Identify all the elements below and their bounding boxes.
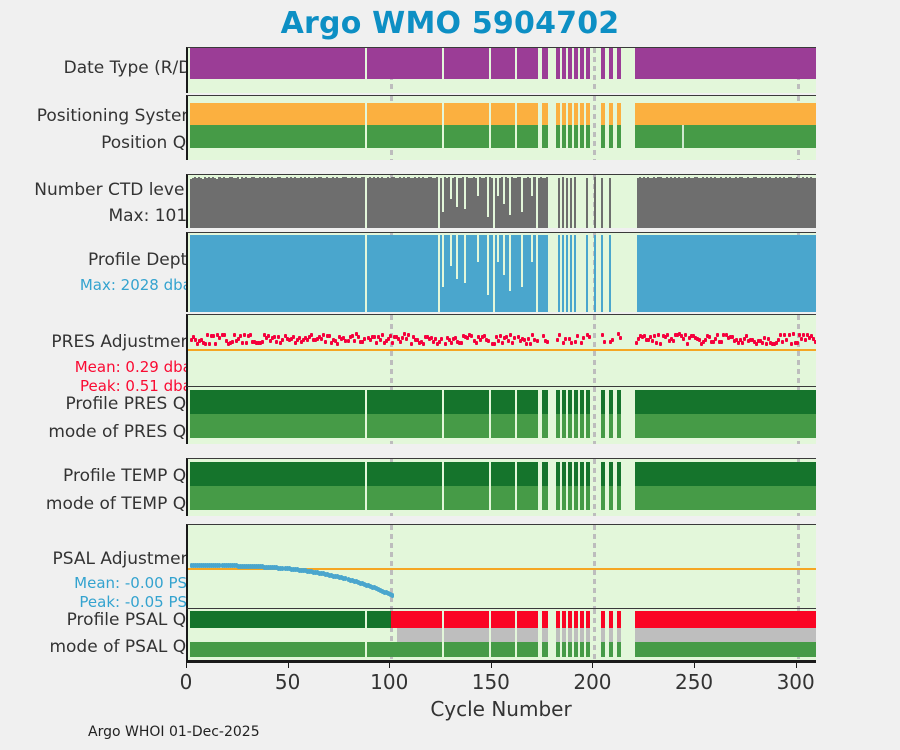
- pres-adjustment-point: [659, 342, 662, 346]
- pres-adjustment-point: [450, 341, 453, 345]
- mode-psal-qc-block: [617, 642, 621, 657]
- mode-psal-qc-block: [601, 642, 605, 657]
- pres-adjustment-point: [401, 336, 404, 340]
- ctd-level-bar: [491, 178, 493, 228]
- pres-qc-profile-block: [586, 390, 590, 415]
- pres-adjustment-point: [306, 338, 309, 342]
- gridline-300: [797, 315, 800, 388]
- positioning-system-block: [517, 103, 537, 125]
- temp-qc-mode-block: [367, 486, 442, 510]
- mode-psal-qc-block: [568, 642, 572, 657]
- positioning-system-block: [190, 103, 365, 125]
- positioning-system-block: [444, 103, 489, 125]
- position-qc-block: [491, 125, 515, 148]
- pres-adjustment-point: [653, 334, 656, 338]
- pres-adjustment-point: [277, 335, 280, 339]
- pres-adjustment-point: [351, 334, 354, 338]
- temp-qc-profile-block: [367, 462, 442, 487]
- pres-adjustment-point: [513, 336, 516, 340]
- pres-adjustment-point: [790, 342, 793, 346]
- mode-psal-qc-block: [542, 642, 548, 657]
- date-type-block: [542, 48, 548, 79]
- temp-qc-mode-block: [586, 486, 590, 510]
- ctd-level-bar: [566, 178, 568, 228]
- pres-adjustment-point: [239, 334, 242, 338]
- mode-psal-qc-block: [609, 642, 613, 657]
- row-label-profile-depth-0: Profile Depth: [0, 250, 198, 270]
- pres-adjustment-point: [507, 339, 510, 343]
- gridline-200: [593, 525, 596, 608]
- pres-adjustment-point: [206, 333, 209, 337]
- pres-adjustment-point: [381, 333, 384, 337]
- temp-qc-profile-block: [542, 462, 548, 487]
- pres-adjustment-point: [511, 341, 514, 345]
- pres-adjustment-point: [531, 333, 534, 337]
- pres-adjustment-point: [422, 342, 425, 346]
- position-qc-block: [367, 125, 442, 148]
- pres-adjustment-point: [570, 341, 573, 345]
- argo-float-chart: Argo WMO 5904702 Date Type (R/D)Position…: [0, 0, 900, 750]
- position-qc-block: [580, 125, 584, 148]
- profile-depth-bar: [609, 235, 611, 312]
- profile-depth-bar: [533, 235, 535, 312]
- mode-psal-qc-block: [444, 642, 489, 657]
- row-label-psal-adjustment-2: Peak: -0.05 PSU: [0, 593, 198, 611]
- pres-qc-profile-block: [617, 390, 621, 415]
- positioning-system-block: [556, 103, 560, 125]
- panel-pres-adjustment: [186, 314, 816, 388]
- mode-psal-qc-gray-block: [491, 628, 515, 642]
- mode-psal-qc-block: [562, 642, 566, 657]
- pres-adjustment-point: [580, 341, 583, 345]
- temp-qc-profile-block: [491, 462, 515, 487]
- positioning-system-block: [542, 103, 548, 125]
- position-qc-block: [568, 125, 572, 148]
- positioning-system-block: [367, 103, 442, 125]
- row-label-temp-qc-0: Profile TEMP QC: [0, 466, 198, 486]
- plot-area-psal-adjustment: [188, 525, 816, 608]
- gridline-100: [390, 315, 393, 388]
- pres-adjustment-point: [212, 334, 215, 338]
- temp-qc-profile-block: [444, 462, 489, 487]
- psal-qc-bad-block: [609, 611, 613, 628]
- x-tick-label-100: 100: [370, 670, 408, 694]
- profile-depth-bar: [491, 235, 493, 312]
- gridline-200: [593, 48, 596, 93]
- psal-qc-bad-block: [517, 611, 537, 628]
- pres-adjustment-point: [487, 339, 490, 343]
- pres-adjustment-point: [204, 342, 207, 346]
- pres-adjustment-point: [684, 333, 687, 337]
- credit-text: Argo WHOI 01-Dec-2025: [88, 724, 260, 740]
- mode-psal-qc-gray-block: [556, 628, 560, 642]
- pres-qc-profile-block: [367, 390, 442, 415]
- row-label-pres-adjustment-2: Peak: 0.51 dbar: [0, 377, 198, 395]
- x-axis: [186, 661, 816, 663]
- gridline-200: [593, 315, 596, 388]
- pres-qc-mode-block: [601, 414, 605, 438]
- temp-qc-profile-block: [635, 462, 816, 487]
- position-qc-block: [542, 125, 548, 148]
- profile-depth-bar: [546, 235, 548, 312]
- pres-adjustment-point: [444, 342, 447, 346]
- mode-psal-qc-block: [190, 642, 365, 657]
- mode-psal-qc-block: [635, 642, 816, 657]
- position-qc-block: [574, 125, 578, 148]
- temp-qc-profile-block: [568, 462, 572, 487]
- temp-qc-mode-block: [444, 486, 489, 510]
- temp-qc-mode-block: [580, 486, 584, 510]
- positioning-system-block: [617, 103, 621, 125]
- psal-qc-bad-block: [635, 611, 816, 628]
- psal-qc-good-block: [190, 611, 365, 628]
- mode-psal-qc-block: [580, 642, 584, 657]
- positioning-system-block: [568, 103, 572, 125]
- pres-adjustment-point: [741, 341, 744, 345]
- pres-adjustment-point: [241, 341, 244, 345]
- mode-psal-qc-gray-block: [562, 628, 566, 642]
- ctd-level-bar: [609, 178, 611, 228]
- pres-adjustment-point: [399, 340, 402, 344]
- pres-qc-mode-block: [444, 414, 489, 438]
- pres-adjustment-point: [655, 341, 658, 345]
- temp-qc-profile-block: [601, 462, 605, 487]
- pres-qc-mode-block: [574, 414, 578, 438]
- pres-adjustment-point: [682, 337, 685, 341]
- pres-qc-mode-block: [562, 414, 566, 438]
- temp-qc-mode-block: [562, 486, 566, 510]
- mode-psal-qc-block: [586, 642, 590, 657]
- temp-qc-mode-block: [617, 486, 621, 510]
- temp-qc-mode-block: [601, 486, 605, 510]
- psal-qc-bad-block: [568, 611, 572, 628]
- row-label-pres-adjustment-0: PRES Adjustment: [0, 332, 198, 352]
- pres-adjustment-point: [403, 332, 406, 336]
- mode-psal-qc-block: [491, 642, 515, 657]
- pres-qc-mode-block: [635, 414, 816, 438]
- pres-adjustment-point: [440, 337, 443, 341]
- ctd-level-bar: [546, 177, 548, 228]
- plot-area-temp-qc: [188, 459, 816, 516]
- profile-depth-bar: [570, 235, 572, 312]
- pres-qc-mode-block: [609, 414, 613, 438]
- plot-area-psal-qc: [188, 609, 816, 660]
- pres-qc-profile-block: [491, 390, 515, 415]
- temp-qc-profile-block: [574, 462, 578, 487]
- panel-psal-adjustment: [186, 524, 816, 608]
- pres-adjustment-point: [407, 333, 410, 337]
- pres-adjustment-point: [802, 333, 805, 337]
- pres-qc-profile-block: [444, 390, 489, 415]
- mode-psal-qc-block: [574, 642, 578, 657]
- row-label-psal-qc-0: Profile PSAL QC: [0, 610, 198, 630]
- psal-qc-bad-block: [491, 611, 515, 628]
- date-type-block: [444, 48, 489, 79]
- page-title: Argo WMO 5904702: [0, 6, 900, 41]
- pres-adjustment-point: [267, 334, 270, 338]
- temp-qc-profile-block: [517, 462, 537, 487]
- ctd-level-bar: [562, 177, 564, 228]
- temp-qc-mode-block: [517, 486, 537, 510]
- row-label-pres-adjustment-1: Mean: 0.29 dbar: [0, 358, 198, 376]
- ctd-level-bar: [436, 177, 438, 228]
- x-tick-label-250: 250: [675, 670, 713, 694]
- pres-adjustment-point: [745, 334, 748, 338]
- pres-adjustment-point: [231, 340, 234, 344]
- pres-adjustment-point: [529, 342, 532, 346]
- date-type-block: [190, 48, 365, 79]
- mode-psal-qc-gray-block: [617, 628, 621, 642]
- pres-adjustment-point: [525, 342, 528, 346]
- pres-adjustment-point: [743, 337, 746, 341]
- plot-area-pres-adjustment: [188, 315, 816, 388]
- pres-adjustment-point: [708, 335, 711, 339]
- row-label-positioning-0: Positioning System: [0, 106, 198, 126]
- pres-qc-mode-block: [542, 414, 548, 438]
- x-tick-300: [796, 661, 797, 668]
- pres-adjustment-point: [249, 333, 252, 337]
- gridline-200: [593, 96, 596, 160]
- positioning-system-block: [574, 103, 578, 125]
- pres-adjustment-point: [275, 340, 278, 344]
- date-type-block: [635, 48, 816, 79]
- pres-adjustment-point: [720, 340, 723, 344]
- temp-qc-mode-block: [190, 486, 365, 510]
- ctd-level-bar: [533, 177, 535, 228]
- pres-adjustment-point: [582, 336, 585, 340]
- psal-qc-bad-block: [562, 611, 566, 628]
- pres-adjustment-point: [755, 342, 758, 346]
- plot-area-profile-depth: [188, 233, 816, 312]
- pres-qc-mode-block: [556, 414, 560, 438]
- ctd-level-bar: [363, 177, 365, 228]
- mode-psal-qc-block: [517, 642, 537, 657]
- temp-qc-profile-block: [556, 462, 560, 487]
- pres-adjustment-point: [779, 333, 782, 337]
- pres-adjustment-point: [796, 341, 799, 345]
- pres-adjustment-point: [588, 335, 591, 339]
- row-label-positioning-1: Position QC: [0, 133, 198, 153]
- pres-qc-profile-block: [609, 390, 613, 415]
- pres-adjustment-point: [556, 338, 559, 342]
- x-tick-label-200: 200: [573, 670, 611, 694]
- pres-qc-profile-block: [562, 390, 566, 415]
- pres-qc-mode-block: [491, 414, 515, 438]
- position-qc-block: [556, 125, 560, 148]
- psal-qc-bad-block: [444, 611, 489, 628]
- date-type-block: [574, 48, 578, 79]
- pres-adjustment-point: [546, 340, 549, 344]
- pres-adjustment-point: [651, 339, 654, 343]
- psal-qc-bad-block: [542, 611, 548, 628]
- pres-adjustment-point: [611, 338, 614, 342]
- pres-adjustment-point: [389, 334, 392, 338]
- pres-qc-mode-block: [568, 414, 572, 438]
- pres-qc-profile-block: [635, 390, 816, 415]
- position-qc-block: [517, 125, 537, 148]
- row-label-profile-depth-1: Max: 2028 dbar: [0, 276, 198, 294]
- pres-adjustment-point: [635, 341, 638, 345]
- pres-adjustment-point: [686, 342, 689, 346]
- panel-pres-qc: [186, 386, 816, 444]
- date-type-block: [562, 48, 566, 79]
- gridline-300: [797, 525, 800, 608]
- mode-psal-qc-gray-block: [601, 628, 605, 642]
- pres-adjustment-point: [619, 336, 622, 340]
- date-type-block: [556, 48, 560, 79]
- temp-qc-profile-block: [562, 462, 566, 487]
- pres-adjustment-point: [233, 333, 236, 337]
- pres-adjustment-point: [643, 334, 646, 338]
- plot-area-ctd-levels: [188, 175, 816, 228]
- pres-adjustment-point: [347, 339, 350, 343]
- pres-adjustment-point: [788, 333, 791, 337]
- panel-date-type: [186, 47, 816, 93]
- x-tick-label-300: 300: [777, 670, 815, 694]
- pres-adjustment-point: [781, 340, 784, 344]
- pres-qc-mode-block: [367, 414, 442, 438]
- row-label-psal-adjustment-0: PSAL Adjustment: [0, 549, 198, 569]
- psal-adjustment-point: [391, 593, 394, 598]
- pres-qc-profile-block: [517, 390, 537, 415]
- pres-adjustment-point: [562, 341, 565, 345]
- pres-adjustment-point: [603, 340, 606, 344]
- pres-adjustment-point: [497, 339, 500, 343]
- row-label-pres-qc-1: mode of PRES QC: [0, 422, 198, 442]
- pres-adjustment-point: [765, 342, 768, 346]
- date-type-block: [609, 48, 613, 79]
- gridline-200: [593, 609, 596, 660]
- x-tick-250: [694, 661, 695, 668]
- pres-adjustment-point: [336, 342, 339, 346]
- pres-adjustment-point: [666, 333, 669, 337]
- ctd-level-bar: [586, 178, 588, 228]
- position-qc-block: [617, 125, 621, 148]
- psal-qc-good-block: [367, 611, 391, 628]
- pres-adjustment-point: [245, 341, 248, 345]
- temp-qc-mode-block: [556, 486, 560, 510]
- mode-psal-qc-block: [367, 642, 442, 657]
- pres-adjustment-point: [777, 338, 780, 342]
- pres-adjustment-point: [763, 336, 766, 340]
- pres-qc-mode-block: [517, 414, 537, 438]
- pres-adjustment-point: [310, 333, 313, 337]
- mode-psal-qc-gray-block: [517, 628, 537, 642]
- row-label-psal-adjustment-1: Mean: -0.00 PSU: [0, 574, 198, 592]
- psal-qc-bad-block: [391, 611, 442, 628]
- pres-adjustment-point: [320, 337, 323, 341]
- position-qc-block: [444, 125, 489, 148]
- pres-adjustment-point: [783, 333, 786, 337]
- pres-adjustment-point: [576, 334, 579, 338]
- positioning-system-block: [491, 103, 515, 125]
- position-qc-block: [586, 125, 590, 148]
- pres-adjustment-point: [357, 335, 360, 339]
- mode-psal-qc-gray-block: [580, 628, 584, 642]
- position-qc-block: [609, 125, 613, 148]
- pres-adjustment-point: [470, 334, 473, 338]
- x-tick-200: [592, 661, 593, 668]
- mode-psal-qc-gray-block: [444, 628, 489, 642]
- positioning-system-block: [601, 103, 605, 125]
- mode-psal-qc-gray-block: [568, 628, 572, 642]
- pres-qc-mode-block: [617, 414, 621, 438]
- pres-adjustment-point: [261, 340, 264, 344]
- pres-adjustment-point: [698, 338, 701, 342]
- x-tick-50: [288, 661, 289, 668]
- temp-qc-mode-block: [609, 486, 613, 510]
- pres-adjustment-point: [493, 342, 496, 346]
- plot-area-date-type: [188, 48, 816, 93]
- pres-adjustment-point: [460, 341, 463, 345]
- profile-depth-bar: [566, 235, 568, 312]
- panel-temp-qc: [186, 458, 816, 516]
- pres-qc-profile-block: [601, 390, 605, 415]
- ctd-level-bar: [558, 178, 560, 228]
- pres-adjustment-point: [601, 333, 604, 337]
- pres-adjustment-point: [704, 338, 707, 342]
- date-type-block: [580, 48, 584, 79]
- x-tick-label-50: 50: [275, 670, 300, 694]
- x-tick-label-0: 0: [180, 670, 193, 694]
- mode-psal-qc-gray-block: [635, 628, 816, 642]
- mode-psal-qc-gray-block: [574, 628, 578, 642]
- pres-adjustment-point: [800, 337, 803, 341]
- date-type-block: [568, 48, 572, 79]
- pres-adjustment-point: [792, 332, 795, 336]
- pres-adjustment-point: [558, 333, 561, 337]
- pres-adjustment-point: [379, 338, 382, 342]
- temp-qc-mode-block: [568, 486, 572, 510]
- pres-adjustment-point: [375, 341, 378, 345]
- panel-psal-qc: [186, 608, 816, 661]
- temp-qc-profile-block: [617, 462, 621, 487]
- x-tick-0: [186, 661, 187, 668]
- pres-qc-profile-block: [580, 390, 584, 415]
- pres-adjustment-point: [218, 336, 221, 340]
- pres-qc-profile-block: [556, 390, 560, 415]
- pres-adjustment-point: [574, 340, 577, 344]
- pres-adjustment-point: [361, 340, 364, 344]
- profile-depth-bar: [558, 235, 560, 312]
- profile-depth-bar: [574, 235, 576, 312]
- temp-qc-mode-block: [635, 486, 816, 510]
- date-type-block: [491, 48, 515, 79]
- pres-adjustment-point: [405, 337, 408, 341]
- position-qc-block: [601, 125, 605, 148]
- positioning-system-block: [609, 103, 613, 125]
- pres-adjustment-point: [373, 335, 376, 339]
- pres-adjustment-point: [391, 341, 394, 345]
- pres-qc-mode-block: [190, 414, 365, 438]
- row-label-ctd-levels-0: Number CTD levels: [0, 180, 198, 200]
- profile-depth-bar: [363, 235, 365, 312]
- psal-qc-bad-block: [556, 611, 560, 628]
- mode-psal-qc-gray-block: [542, 628, 548, 642]
- pres-qc-profile-block: [574, 390, 578, 415]
- pres-qc-mode-block: [586, 414, 590, 438]
- row-label-ctd-levels-1: Max: 1013: [0, 206, 198, 226]
- temp-qc-profile-block: [586, 462, 590, 487]
- row-label-pres-qc-0: Profile PRES QC: [0, 394, 198, 414]
- pres-adjustment-point: [273, 335, 276, 339]
- psal-qc-bad-block: [586, 611, 590, 628]
- plot-area-positioning: [188, 96, 816, 160]
- temp-qc-mode-block: [491, 486, 515, 510]
- pres-adjustment-point: [324, 340, 327, 344]
- psal-qc-bad-block: [617, 611, 621, 628]
- position-qc-gap: [682, 125, 684, 148]
